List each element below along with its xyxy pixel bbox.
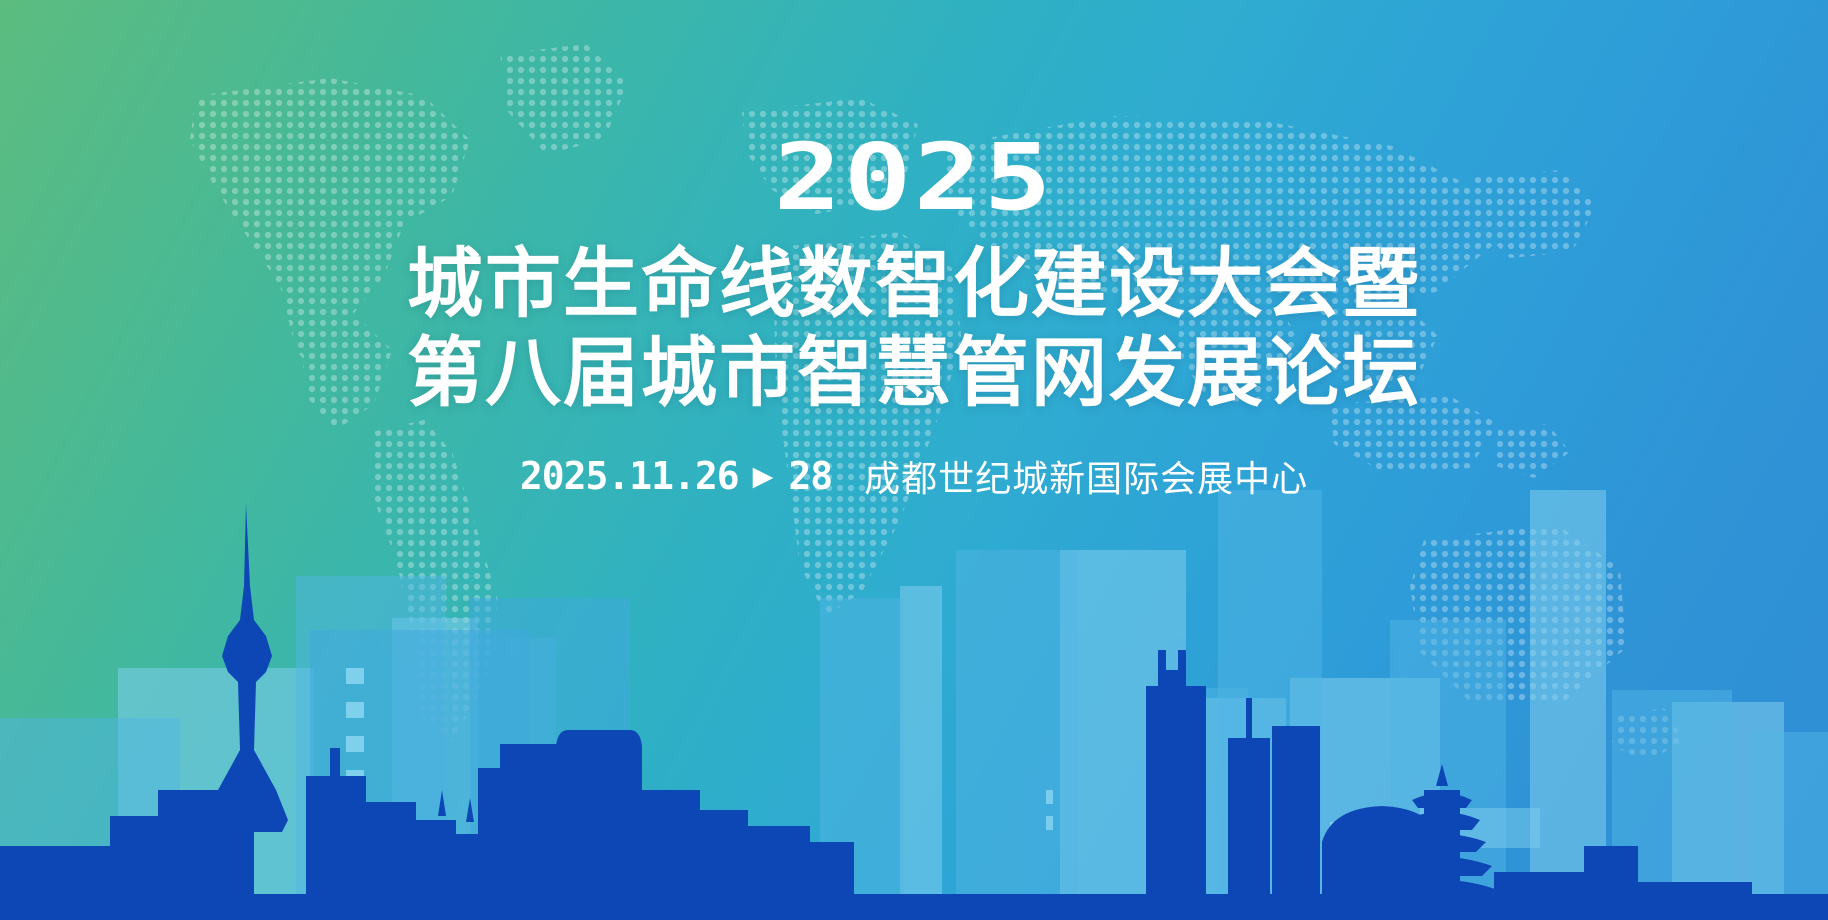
conference-title-line-1: 城市生命线数智化建设大会暨: [407, 243, 1421, 327]
year-headline: 2025: [774, 136, 1054, 221]
event-end-date: 28: [788, 454, 832, 498]
event-start-date: 2025.11.26: [520, 454, 739, 498]
event-venue: 成都世纪城新国际会展中心: [864, 450, 1308, 502]
conference-title: 城市生命线数智化建设大会暨 第八届城市智慧管网发展论坛: [407, 243, 1421, 416]
conference-banner: 2025 城市生命线数智化建设大会暨 第八届城市智慧管网发展论坛 2025.11…: [0, 0, 1828, 920]
arrow-right-icon: ▶: [753, 463, 775, 490]
event-meta: 2025.11.26 ▶ 28 成都世纪城新国际会展中心: [520, 450, 1308, 502]
conference-title-line-2: 第八届城市智慧管网发展论坛: [407, 332, 1421, 416]
banner-content: 2025 城市生命线数智化建设大会暨 第八届城市智慧管网发展论坛 2025.11…: [0, 0, 1828, 920]
